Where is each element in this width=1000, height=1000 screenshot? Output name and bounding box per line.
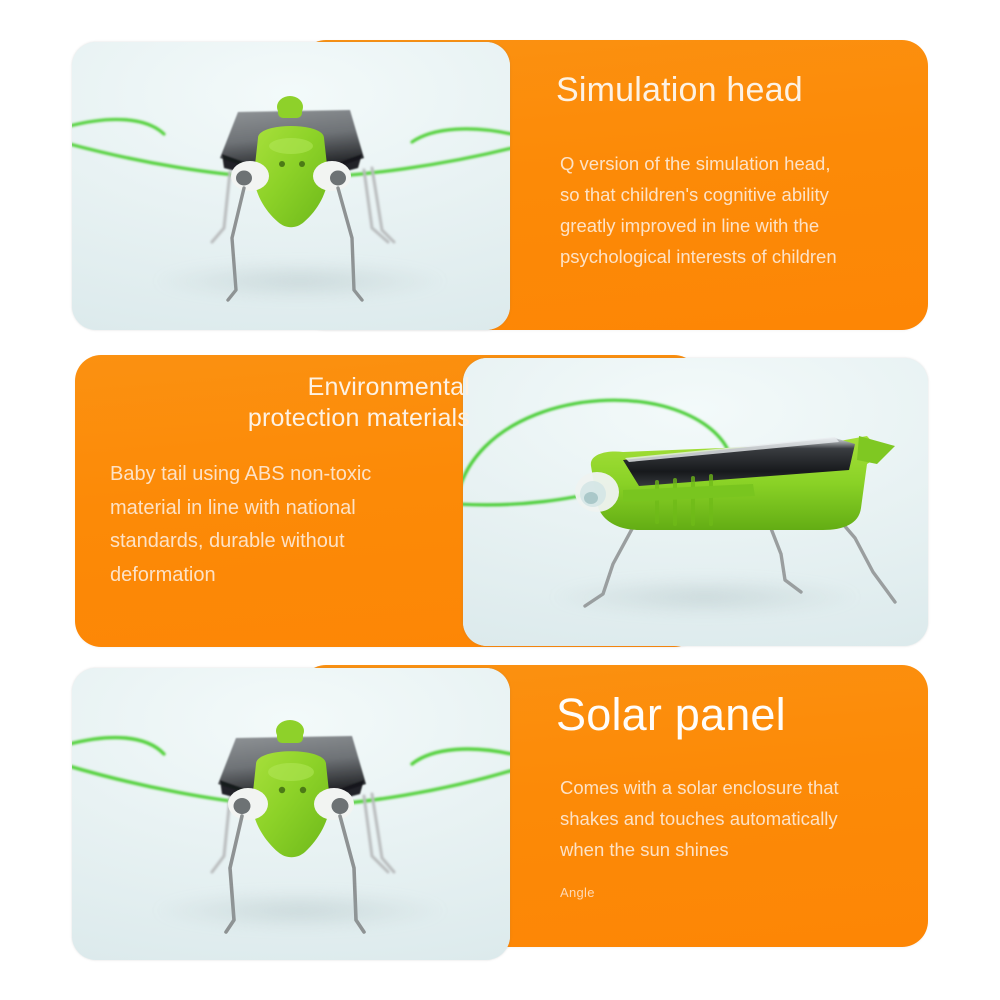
panel-body-text: Comes with a solar enclosure that shakes… [560,772,900,865]
product-feature-page: Simulation head Q version of the simulat… [0,0,1000,1000]
feature-panel-solar-panel: Solar panel Comes with a solar enclosure… [0,0,1000,1000]
panel-heading: Solar panel [556,688,936,743]
grasshopper-front-illustration [72,668,510,960]
product-photo-front-2 [72,668,510,960]
photo-scene [72,668,510,960]
panel-note: Angle [560,885,595,900]
